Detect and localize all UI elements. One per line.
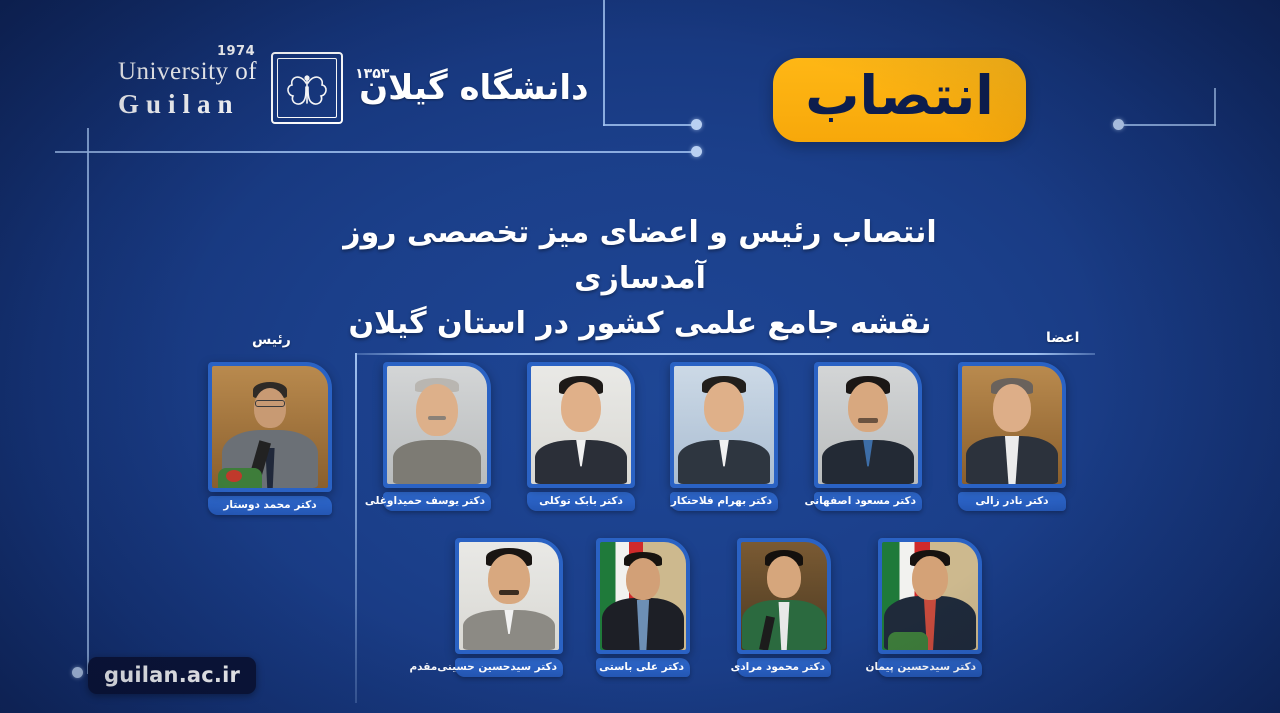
photo-frame [208, 362, 332, 492]
person-name: دکتر بابک توکلی [527, 492, 635, 511]
person-card-member-5[interactable]: دکتر نادر زالی [958, 362, 1066, 511]
logo-year-persian: ۱۳۵۳ [355, 66, 389, 82]
avatar [962, 366, 1062, 484]
person-card-member-1[interactable]: دکتر یوسف حمیداوغلی [383, 362, 491, 511]
avatar [674, 366, 774, 484]
person-name: دکتر یوسف حمیداوغلی [383, 492, 491, 511]
photo-frame [383, 362, 491, 488]
website-url-badge[interactable]: guilan.ac.ir [88, 657, 256, 694]
deco-dot-bottom-left [72, 667, 83, 678]
deco-line-right-horizontal [1120, 124, 1216, 126]
person-card-member-4[interactable]: دکتر مسعود اصفهانی [814, 362, 922, 511]
photo-frame [737, 538, 831, 654]
person-name: دکتر مسعود اصفهانی [814, 492, 922, 511]
avatar [387, 366, 487, 484]
photo-frame [878, 538, 982, 654]
avatar [818, 366, 918, 484]
deco-dot-upper [691, 119, 702, 130]
person-name: دکتر محمد دوستار [208, 496, 332, 515]
page-title-line2: نقشه جامع علمی کشور در استان گیلان [310, 301, 970, 347]
deco-line-top-right-vertical [603, 0, 605, 126]
deco-dot-right [1113, 119, 1124, 130]
deco-line-upper-horizontal [603, 124, 695, 126]
person-card-member-2[interactable]: دکتر بابک توکلی [527, 362, 635, 511]
person-name: دکتر سیدحسین حسینی‌مقدم [455, 658, 563, 677]
logo-english-text: 1974 University of Guilan [118, 59, 261, 118]
person-card-member-6[interactable]: دکتر سیدحسین حسینی‌مقدم [455, 538, 563, 677]
website-url-text: guilan.ac.ir [104, 663, 240, 687]
deco-line-lower-horizontal [55, 151, 695, 153]
person-name: دکتر نادر زالی [958, 492, 1066, 511]
logo-name-persian: دانشگاه گیلان [359, 68, 588, 108]
section-label-chair: رئیس [252, 332, 291, 348]
person-name: دکتر سیدحسین پیمان [878, 658, 982, 677]
photo-frame [596, 538, 690, 654]
photo-frame [814, 362, 922, 488]
avatar [600, 542, 686, 650]
avatar [882, 542, 978, 650]
appointment-badge: انتصاب [773, 58, 1026, 142]
avatar [531, 366, 631, 484]
deco-line-left-vertical [87, 128, 89, 674]
deco-line-right-vertical [1214, 88, 1216, 126]
section-label-members: اعضا [1046, 330, 1079, 346]
person-name: دکتر بهرام فلاحتکار [670, 492, 778, 511]
photo-frame [527, 362, 635, 488]
logo-line-guilan: Guilan [118, 91, 257, 118]
logo-persian-text: ۱۳۵۳ دانشگاه گیلان [353, 68, 588, 108]
members-bracket-left [355, 353, 357, 703]
poster-canvas: 1974 University of Guilan ۱۳۵۳ دانشگاه گ… [0, 0, 1280, 713]
person-card-chair[interactable]: دکتر محمد دوستار [208, 362, 332, 515]
university-logo: 1974 University of Guilan ۱۳۵۳ دانشگاه گ… [118, 52, 589, 124]
person-name: دکتر علی باستی [596, 658, 690, 677]
person-card-member-7[interactable]: دکتر علی باستی [596, 538, 690, 677]
photo-frame [958, 362, 1066, 488]
page-title-line1: انتصاب رئیس و اعضای میز تخصصی روز آمدساز… [310, 210, 970, 301]
person-card-member-3[interactable]: دکتر بهرام فلاحتکار [670, 362, 778, 511]
person-name: دکتر محمود مرادی [737, 658, 831, 677]
logo-line-university-of: University of [118, 59, 257, 84]
logo-year-gregorian: 1974 [217, 45, 255, 58]
person-card-member-8[interactable]: دکتر محمود مرادی [737, 538, 831, 677]
avatar [741, 542, 827, 650]
avatar [459, 542, 559, 650]
photo-frame [670, 362, 778, 488]
page-title: انتصاب رئیس و اعضای میز تخصصی روز آمدساز… [310, 210, 970, 347]
photo-frame [455, 538, 563, 654]
members-bracket-top [355, 353, 1095, 355]
avatar [212, 366, 328, 488]
appointment-badge-label: انتصاب [805, 69, 994, 123]
butterfly-emblem-icon [271, 52, 343, 124]
person-card-member-9[interactable]: دکتر سیدحسین پیمان [878, 538, 982, 677]
deco-dot-lower [691, 146, 702, 157]
